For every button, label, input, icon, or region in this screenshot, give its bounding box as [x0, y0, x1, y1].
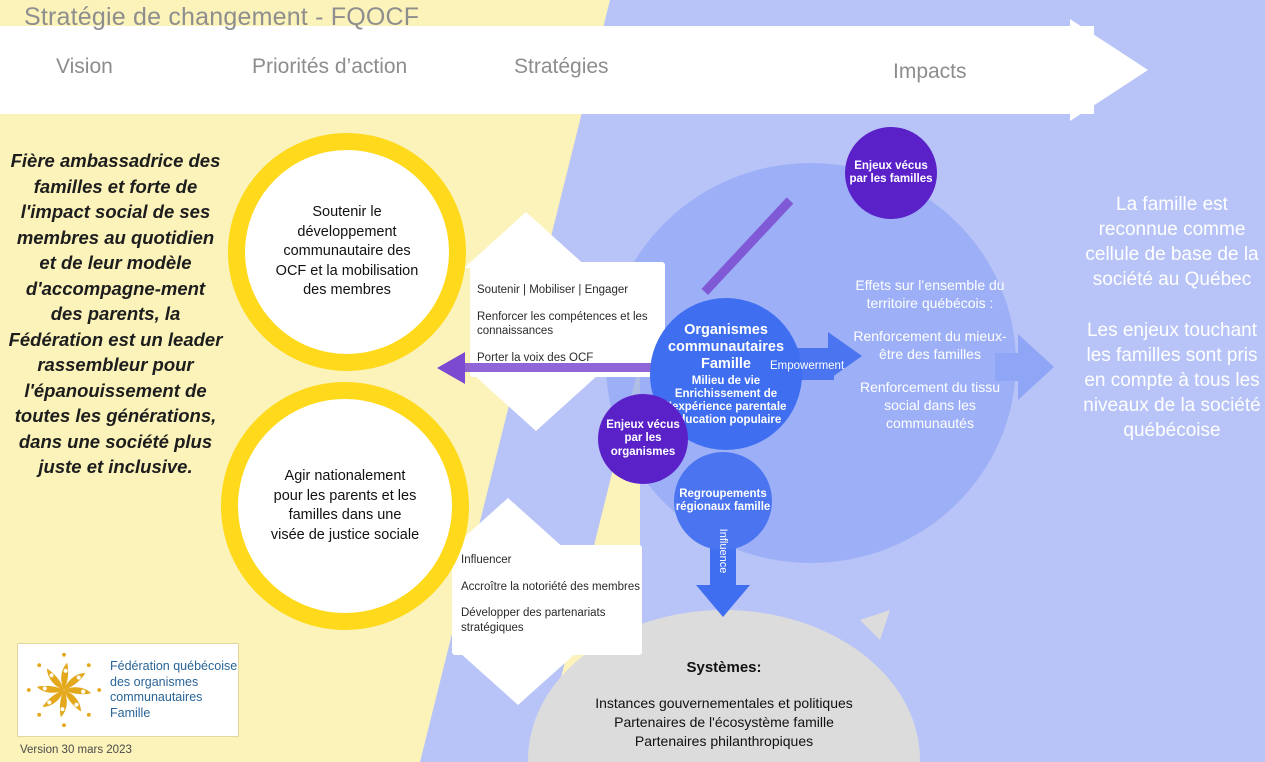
effects-heading: Effets sur l’ensemble du territoire québ…	[845, 276, 1015, 312]
impact-item-1: La famille est reconnue comme cellule de…	[1082, 192, 1262, 292]
page-title: Stratégie de changement - FQOCF	[24, 3, 419, 32]
impact-arrow-head-icon	[1018, 334, 1054, 400]
empowerment-arrow-head-icon	[828, 332, 862, 380]
strategy-callout-1-tip-top	[464, 212, 588, 268]
stage-label-vision: Vision	[56, 55, 113, 79]
empowerment-label: Empowerment	[770, 360, 844, 372]
systems-list: Instances gouvernementales et politiques…	[535, 694, 913, 751]
strategy-2-item-1: Influencer	[461, 553, 641, 568]
impacts-block: La famille est reconnue comme cellule de…	[1082, 192, 1262, 443]
connector-arrowhead-icon	[437, 352, 465, 384]
issues-organisations-circle: Enjeux vécus par les organismes	[598, 394, 688, 484]
stage-arrow-head-icon	[1070, 19, 1148, 121]
systems-item-2: Partenaires de l'écosystème famille	[535, 713, 913, 732]
influence-label: Influence	[717, 520, 729, 582]
stage-label-strategies: Stratégies	[514, 55, 609, 79]
stage-label-impacts: Impacts	[893, 60, 967, 84]
effects-item-1: Renforcement du mieux-être des familles	[845, 327, 1015, 363]
systems-title: Systèmes:	[545, 659, 903, 676]
issues-families-circle: Enjeux vécus par les familles	[845, 127, 937, 219]
effects-block: Effets sur l’ensemble du territoire québ…	[845, 276, 1015, 432]
header-band: Stratégie de changement - FQOCF Vision P…	[0, 0, 1265, 116]
priority-circle-2: Agir nationalement pour les parents et l…	[221, 382, 469, 630]
strategy-1-item-1: Soutenir | Mobiliser | Engager	[477, 283, 662, 298]
influence-arrow-head-icon	[696, 585, 750, 617]
issues-organisations-label: Enjeux vécus par les organismes	[598, 419, 688, 460]
sun-flower-logo-icon	[24, 650, 104, 730]
strategy-1-item-2: Renforcer les compétences et les connais…	[477, 310, 662, 339]
priority-circle-2-label: Agir nationalement pour les parents et l…	[270, 467, 420, 545]
logo-text: Fédération québécoise des organismes com…	[110, 659, 238, 721]
logo-box: Fédération québécoise des organismes com…	[17, 643, 239, 737]
regional-groups-label: Regroupements régionaux famille	[674, 488, 772, 515]
strategy-list-2: Influencer Accroître la notoriété des me…	[461, 553, 641, 647]
infographic-canvas: Influence Regroupements régionaux famill…	[0, 0, 1265, 762]
strategy-2-item-3: Développer des partenariats stratégiques	[461, 606, 641, 635]
strategy-2-item-2: Accroître la notoriété des membres	[461, 580, 641, 595]
issues-families-label: Enjeux vécus par les familles	[845, 160, 937, 187]
impact-item-2: Les enjeux touchant les familles sont pr…	[1082, 318, 1262, 443]
systems-item-1: Instances gouvernementales et politiques	[535, 694, 913, 713]
stage-label-priorites: Priorités d’action	[252, 55, 407, 79]
systems-item-3: Partenaires philanthropiques	[535, 732, 913, 751]
version-label: Version 30 mars 2023	[20, 744, 132, 756]
effects-item-2: Renforcement du tissu social dans les co…	[845, 378, 1015, 432]
systems-diagonal-arrow-icon	[836, 606, 894, 664]
vision-statement: Fière ambassadrice des familles et forte…	[8, 148, 223, 480]
strategy-callout-1-tip-bottom	[474, 375, 598, 431]
priority-circle-1-label: Soutenir le développement communautaire …	[272, 203, 422, 301]
priority-circle-1: Soutenir le développement communautaire …	[228, 133, 466, 371]
